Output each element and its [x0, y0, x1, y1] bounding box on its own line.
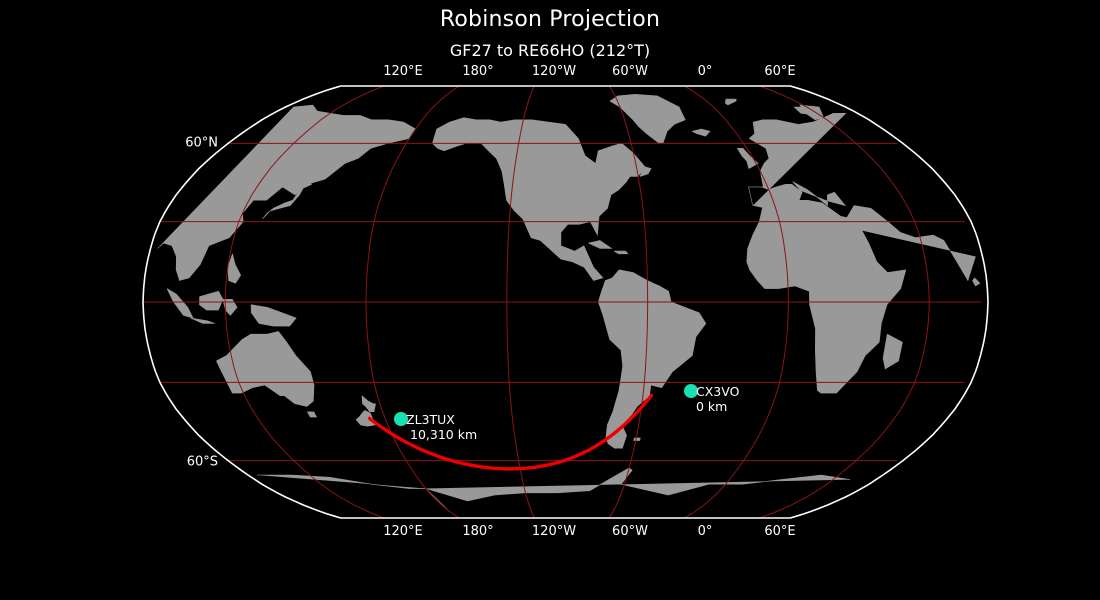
station-callsign-zl3tux: ZL3TUX: [406, 412, 477, 427]
robinson-map-canvas: [0, 0, 1100, 600]
map-figure: Robinson Projection GF27 to RE66HO (212°…: [0, 0, 1100, 600]
station-distance-zl3tux: 10,310 km: [410, 427, 477, 442]
station-callsign-cx3vo: CX3VO: [696, 384, 739, 399]
station-distance-cx3vo: 0 km: [696, 399, 739, 414]
landmass-falkland: [634, 438, 641, 441]
station-label-cx3vo: CX3VO 0 km: [696, 384, 739, 414]
station-label-zl3tux: ZL3TUX 10,310 km: [406, 412, 477, 442]
